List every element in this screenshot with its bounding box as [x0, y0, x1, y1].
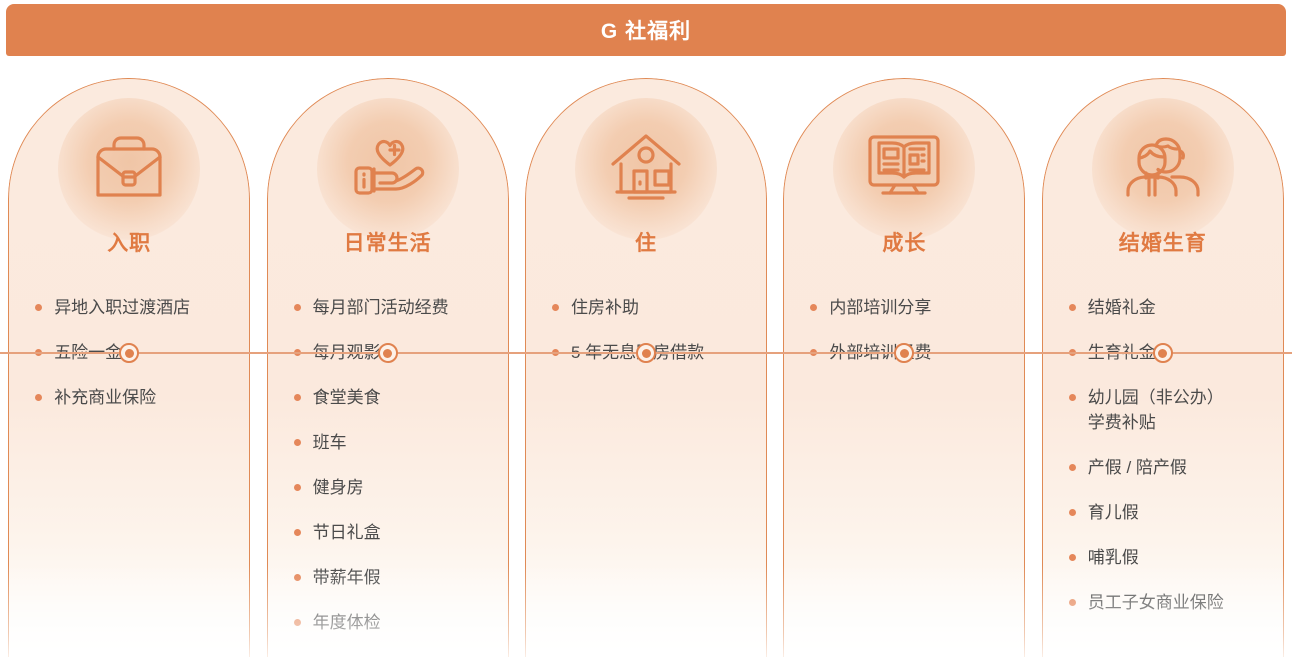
infographic-page: G 社福利 入职异地入职过渡酒店五险一金补充商业保险 日常生活每月部门活动经费每…	[0, 0, 1292, 657]
header-bar: G 社福利	[6, 4, 1286, 56]
bullet-icon	[294, 574, 301, 581]
list-item-label: 哺乳假	[1088, 545, 1269, 570]
list-item: 住房补助	[548, 295, 752, 320]
list-item: 健身房	[290, 475, 494, 500]
bullet-icon	[294, 439, 301, 446]
list-item-label: 育儿假	[1088, 500, 1269, 525]
bullet-icon	[294, 394, 301, 401]
list-item-label: 内部培训分享	[829, 295, 1010, 320]
list-item: 产假 / 陪产假	[1065, 455, 1269, 480]
list-item-label: 结婚礼金	[1088, 295, 1269, 320]
bullet-icon	[294, 484, 301, 491]
benefit-list: 住房补助5 年无息购房借款	[526, 295, 766, 385]
bullet-icon	[1069, 599, 1076, 606]
list-item-line: 内部培训分享	[829, 298, 931, 317]
list-item-line: 育儿假	[1088, 503, 1139, 522]
benefit-list: 内部培训分享外部培训经费	[784, 295, 1024, 385]
list-item-line: 补充商业保险	[54, 388, 156, 407]
list-item-label: 健身房	[313, 475, 494, 500]
list-item-label: 年度体检	[313, 610, 494, 635]
list-item-label: 异地入职过渡酒店	[54, 295, 235, 320]
list-item: 带薪年假	[290, 565, 494, 590]
list-item-label: 班车	[313, 430, 494, 455]
list-item-line: 住房补助	[571, 298, 639, 317]
list-item-line: 哺乳假	[1088, 548, 1139, 567]
list-item-line: 节日礼盒	[313, 523, 381, 542]
card-icon-area	[784, 99, 1024, 239]
timeline-node	[1153, 343, 1173, 363]
list-item-label: 每月部门活动经费	[313, 295, 494, 320]
bullet-icon	[294, 529, 301, 536]
monitor-book-icon	[861, 129, 947, 210]
bullet-icon	[1069, 464, 1076, 471]
list-item: 食堂美食	[290, 385, 494, 410]
bullet-icon	[35, 394, 42, 401]
benefit-card[interactable]: 入职异地入职过渡酒店五险一金补充商业保险	[8, 78, 250, 657]
list-item-label: 补充商业保险	[54, 385, 235, 410]
list-item-line: 结婚礼金	[1088, 298, 1156, 317]
list-item: 异地入职过渡酒店	[31, 295, 235, 320]
benefit-card[interactable]: 结婚生育结婚礼金生育礼金幼儿园（非公办）学费补贴产假 / 陪产假育儿假哺乳假员工…	[1042, 78, 1284, 657]
card-title: 入职	[9, 227, 249, 257]
bullet-icon	[1069, 509, 1076, 516]
list-item: 每月部门活动经费	[290, 295, 494, 320]
list-item-label: 食堂美食	[313, 385, 494, 410]
list-item: 补充商业保险	[31, 385, 235, 410]
card-icon-area	[268, 99, 508, 239]
list-item-label: 员工子女商业保险	[1088, 590, 1269, 615]
list-item-line-2: 学费补贴	[1088, 410, 1269, 435]
list-item-line: 食堂美食	[313, 388, 381, 407]
bullet-icon	[1069, 394, 1076, 401]
list-item-label: 产假 / 陪产假	[1088, 455, 1269, 480]
card-title: 成长	[784, 227, 1024, 257]
bullet-icon	[810, 304, 817, 311]
page-title: G 社福利	[601, 15, 691, 45]
list-item-line: 幼儿园（非公办）	[1088, 388, 1224, 407]
list-item-line: 带薪年假	[313, 568, 381, 587]
list-item-line: 班车	[313, 433, 347, 452]
list-item: 年度体检	[290, 610, 494, 635]
bullet-icon	[1069, 304, 1076, 311]
house-icon	[603, 127, 689, 212]
benefit-cards-row: 入职异地入职过渡酒店五险一金补充商业保险 日常生活每月部门活动经费每月观影食堂美…	[0, 78, 1292, 657]
list-item: 幼儿园（非公办）学费补贴	[1065, 385, 1269, 435]
list-item-label: 幼儿园（非公办）学费补贴	[1088, 385, 1269, 435]
bullet-icon	[552, 304, 559, 311]
card-title: 住	[526, 227, 766, 257]
benefit-card[interactable]: 住住房补助5 年无息购房借款	[525, 78, 767, 657]
list-item: 结婚礼金	[1065, 295, 1269, 320]
card-icon-area	[526, 99, 766, 239]
list-item-label: 节日礼盒	[313, 520, 494, 545]
list-item: 育儿假	[1065, 500, 1269, 525]
list-item-label: 住房补助	[571, 295, 752, 320]
list-item-line: 产假 / 陪产假	[1088, 458, 1187, 477]
benefit-card[interactable]: 日常生活每月部门活动经费每月观影食堂美食班车健身房节日礼盒带薪年假年度体检	[267, 78, 509, 657]
list-item-line: 员工子女商业保险	[1088, 593, 1224, 612]
card-icon-area	[1043, 99, 1283, 239]
list-item: 员工子女商业保险	[1065, 590, 1269, 615]
timeline-node	[378, 343, 398, 363]
timeline-node	[636, 343, 656, 363]
bullet-icon	[294, 304, 301, 311]
connector-timeline	[0, 352, 1292, 354]
bullet-icon	[1069, 554, 1076, 561]
card-icon-area	[9, 99, 249, 239]
hand-heart-care-icon	[344, 127, 432, 212]
list-item-line: 异地入职过渡酒店	[54, 298, 190, 317]
couple-icon	[1119, 129, 1207, 210]
list-item-line: 健身房	[313, 478, 364, 497]
list-item-line: 年度体检	[313, 613, 381, 632]
bullet-icon	[35, 304, 42, 311]
list-item-label: 带薪年假	[313, 565, 494, 590]
list-item: 哺乳假	[1065, 545, 1269, 570]
bullet-icon	[294, 619, 301, 626]
list-item: 班车	[290, 430, 494, 455]
benefit-card[interactable]: 成长内部培训分享外部培训经费	[783, 78, 1025, 657]
list-item: 内部培训分享	[806, 295, 1010, 320]
card-title: 日常生活	[268, 227, 508, 257]
list-item: 节日礼盒	[290, 520, 494, 545]
briefcase-icon	[86, 127, 172, 212]
card-title: 结婚生育	[1043, 227, 1283, 257]
list-item-line: 每月部门活动经费	[313, 298, 449, 317]
